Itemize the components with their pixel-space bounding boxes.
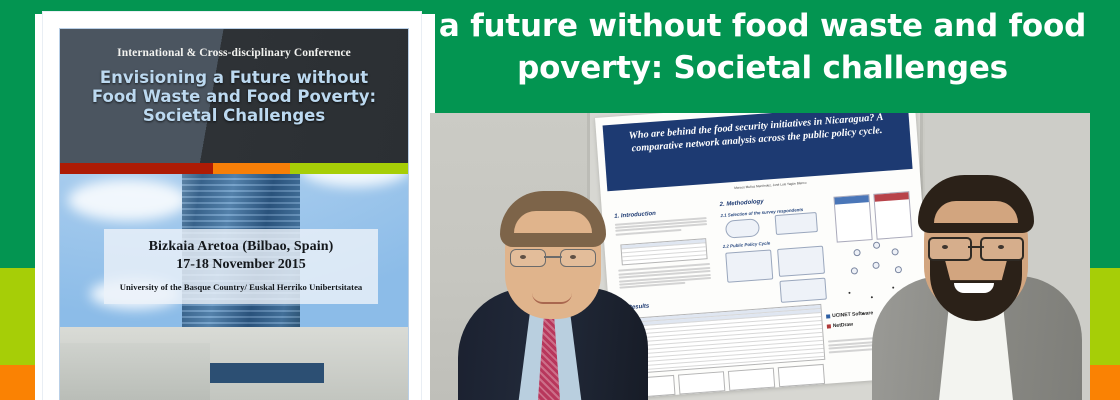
flow-node: [725, 218, 760, 238]
rail-segment-green: [0, 0, 35, 268]
rail-segment-green-right: [1085, 0, 1120, 268]
network-node: [853, 249, 860, 256]
rail-segment-lime: [0, 268, 35, 365]
poster-card-blue: [833, 194, 872, 243]
conference-kicker: International & Cross-disciplinary Confe…: [70, 47, 398, 59]
conference-poster-card: International & Cross-disciplinary Confe…: [43, 12, 421, 400]
venue-organizer: University of the Basque Country/ Euskal…: [110, 282, 372, 292]
ucinet-icon: [826, 314, 830, 318]
card-cap: [834, 195, 868, 204]
lens-left: [928, 237, 972, 261]
conference-title: Envisioning a Future without Food Waste …: [68, 68, 400, 125]
right-color-rail: [1085, 0, 1120, 400]
poster-network-thumb: [728, 368, 775, 391]
poster-network-thumb: [678, 371, 725, 394]
rail-segment-orange: [0, 365, 35, 400]
headline-line1: a future without food waste and food: [435, 6, 1090, 48]
netdraw-icon: [827, 324, 831, 328]
flow-node: [725, 249, 773, 282]
venue-name: Bizkaia Aretoa (Bilbao, Spain): [110, 239, 372, 255]
person-left: [458, 187, 648, 400]
poster-title-band: International & Cross-disciplinary Confe…: [60, 29, 408, 163]
conference-photo: Who are behind the food security initiat…: [430, 113, 1090, 400]
rail-segment-lime-right: [1085, 268, 1120, 365]
ucinet-text: UCINET Software: [832, 310, 873, 319]
lens-right: [980, 237, 1024, 261]
cloud-icon: [68, 179, 188, 221]
flow-node: [779, 278, 826, 303]
venue-dates: 17-18 November 2015: [110, 257, 372, 273]
hair: [918, 175, 1034, 233]
conference-title-line1: Envisioning a Future without: [68, 68, 400, 87]
building-wall: [60, 343, 210, 400]
slide-canvas: International & Cross-disciplinary Confe…: [0, 0, 1120, 400]
headline-line2: poverty: Societal challenges: [435, 48, 1090, 90]
lens-left: [510, 249, 546, 267]
lens-right: [560, 249, 596, 267]
flow-node: [775, 212, 818, 235]
person-right: [872, 171, 1082, 400]
software-netdraw-label: NetDraw: [827, 322, 854, 330]
eyeglasses-icon: [928, 237, 1024, 257]
conference-poster-image: International & Cross-disciplinary Confe…: [59, 28, 409, 400]
conference-title-line3: Societal Challenges: [68, 106, 400, 125]
rail-segment-orange-right: [1085, 365, 1120, 400]
mouth: [532, 293, 572, 304]
network-dot: [848, 292, 850, 294]
headline-banner: a future without food waste and food pov…: [435, 0, 1090, 113]
network-node: [851, 267, 858, 274]
mouth: [954, 283, 994, 293]
poster-color-stripe: [60, 163, 408, 174]
flow-node: [777, 246, 825, 277]
poster-network-thumb: [778, 364, 825, 387]
stripe-lime: [290, 163, 408, 174]
netdraw-text: NetDraw: [833, 322, 854, 329]
left-color-rail: [0, 0, 35, 400]
stripe-orange: [213, 163, 290, 174]
hair: [500, 191, 606, 247]
software-ucinet-label: UCINET Software: [826, 310, 873, 319]
conference-title-line2: Food Waste and Food Poverty:: [68, 87, 400, 106]
stripe-red: [60, 163, 213, 174]
eyeglasses-icon: [510, 249, 596, 265]
headline-text: a future without food waste and food pov…: [435, 6, 1090, 89]
venue-plate: Bizkaia Aretoa (Bilbao, Spain) 17-18 Nov…: [104, 229, 378, 304]
poster-results-table: [624, 304, 826, 374]
